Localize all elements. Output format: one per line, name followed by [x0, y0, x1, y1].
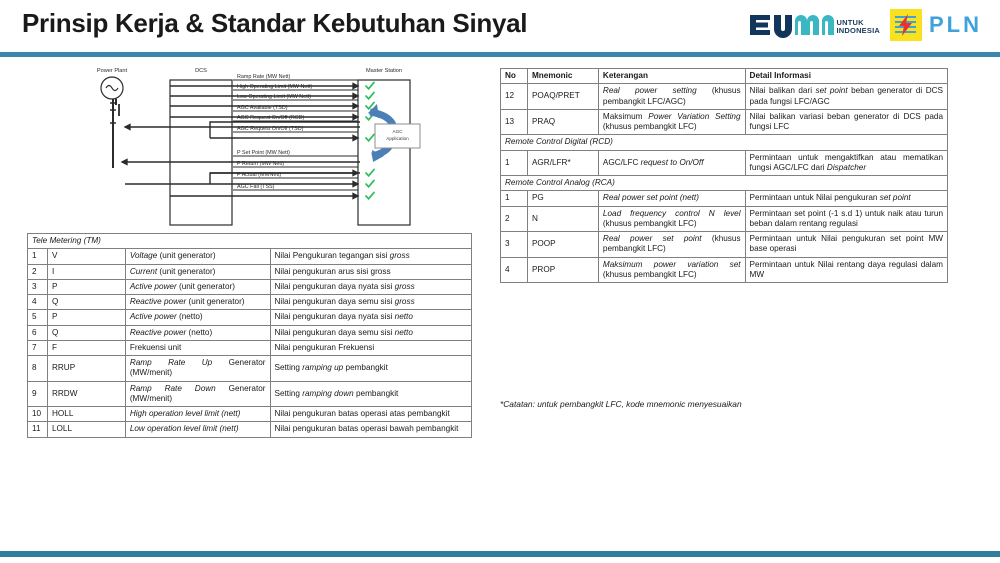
cell-detail: Permintaan untuk mengaktifkan atau memat… — [745, 150, 947, 176]
logo-group: UNTUK INDONESIA PLN — [748, 9, 982, 41]
signal-arrowhead — [122, 159, 127, 164]
table-row: 12POAQ/PRETReal power setting (khusus pe… — [501, 84, 948, 110]
cell-no: 5 — [28, 310, 48, 325]
svg-text:Power Plant: Power Plant — [97, 68, 128, 74]
table-row: 8RRUPRamp Rate Up Generator (MW/menit)Se… — [28, 356, 472, 382]
cell-keterangan: Voltage (unit generator) — [125, 249, 270, 264]
cell-mnemonic: I — [47, 264, 125, 279]
pln-lightning-badge — [890, 9, 922, 41]
svg-text:Application: Application — [386, 136, 409, 141]
cell-no: 2 — [28, 264, 48, 279]
cell-keterangan: Real power setting (khusus pembangkit LF… — [598, 84, 745, 110]
table-row: 2ICurrent (unit generator)Nilai pengukur… — [28, 264, 472, 279]
cell-mnemonic: PROP — [527, 257, 598, 283]
cell-detail: Nilai pengukuran daya semu sisi gross — [270, 295, 472, 310]
table-row: 7FFrekuensi unitNilai pengukuran Frekuen… — [28, 340, 472, 355]
cell-keterangan: Active power (unit generator) — [125, 279, 270, 294]
table-row: 1AGR/LFR*AGC/LFC request to On/OffPermin… — [501, 150, 948, 176]
bumn-tagline-line2: INDONESIA — [837, 27, 880, 35]
bumn-tagline: UNTUK INDONESIA — [837, 16, 880, 35]
signal-label: P Return (MW Nett) — [237, 161, 284, 167]
svg-text:Master Station: Master Station — [366, 68, 402, 74]
signal-label: Ramp Rate (MW Nett) — [237, 74, 291, 80]
cell-detail: Nilai balikan dari set point beban gener… — [745, 84, 947, 110]
table-footnote: *Catatan: untuk pembangkit LFC, kode mne… — [500, 399, 742, 409]
cell-detail: Nilai pengukuran daya semu sisi netto — [270, 325, 472, 340]
table-row: 5PActive power (netto)Nilai pengukuran d… — [28, 310, 472, 325]
cell-no: 8 — [28, 356, 48, 382]
cell-detail: Nilai balikan variasi beban generator di… — [745, 109, 947, 135]
cell-keterangan: Active power (netto) — [125, 310, 270, 325]
cell-keterangan: Current (unit generator) — [125, 264, 270, 279]
cell-detail: Nilai pengukuran batas operasi atas pemb… — [270, 407, 472, 422]
table-row: 9RRDWRamp Rate Down Generator (MW/menit)… — [28, 381, 472, 407]
table-header-row: NoMnemonicKeteranganDetail Informasi — [501, 69, 948, 84]
cell-keterangan: Ramp Rate Down Generator (MW/menit) — [125, 381, 270, 407]
signal-arrowhead — [353, 181, 358, 186]
check-icon — [366, 134, 374, 140]
cell-no: 13 — [501, 109, 528, 135]
pln-wordmark: PLN — [929, 12, 982, 38]
section-remote-control-digital: Remote Control Digital (RCD) — [501, 135, 948, 150]
signal-arrowhead — [353, 135, 358, 140]
cell-detail: Permintaan untuk Nilai pengukuran set po… — [745, 232, 947, 258]
mnemonic-table: NoMnemonicKeteranganDetail Informasi12PO… — [500, 68, 948, 283]
signal-arrowhead — [353, 93, 358, 98]
cell-no: 3 — [28, 279, 48, 294]
cell-mnemonic: AGR/LFR* — [527, 150, 598, 176]
cell-keterangan: Reactive power (unit generator) — [125, 295, 270, 310]
cell-mnemonic: PRAQ — [527, 109, 598, 135]
header-no: No — [501, 69, 528, 84]
cell-no: 12 — [501, 84, 528, 110]
cell-no: 1 — [501, 191, 528, 206]
signal-arrowhead — [353, 103, 358, 108]
agc-application-callout: AGC Application — [368, 104, 420, 162]
table-section-row: Tele Metering (TM) — [28, 234, 472, 249]
cell-detail: Permintaan set point (-1 s.d 1) untuk na… — [745, 206, 947, 232]
signal-label: AGC Request On/Off (RCD) — [237, 115, 305, 121]
check-icon — [366, 82, 374, 88]
signal-label: High Operating Limit (MW Nett) — [237, 84, 312, 90]
header-mnemonic: Mnemonic — [527, 69, 598, 84]
table-row: 1PGReal power set point (nett)Permintaan… — [501, 191, 948, 206]
cell-mnemonic: F — [47, 340, 125, 355]
cell-keterangan: AGC/LFC request to On/Off — [598, 150, 745, 176]
cell-detail: Setting ramping down pembangkit — [270, 381, 472, 407]
cell-keterangan: Frekuensi unit — [125, 340, 270, 355]
cell-mnemonic: V — [47, 249, 125, 264]
check-icon — [366, 180, 374, 186]
signal-label: Low Operating Limit (MW Nett) — [237, 94, 311, 100]
signal-arrowhead — [353, 114, 358, 119]
cell-no: 4 — [28, 295, 48, 310]
cell-keterangan: Maksimum power variation set (khusus pem… — [598, 257, 745, 283]
cell-keterangan: Real power set point (nett) — [598, 191, 745, 206]
signal-flow-diagram: Ramp Rate (MW Nett)High Operating Limit … — [70, 60, 490, 238]
cell-keterangan: Real power set point (khusus pembangkit … — [598, 232, 745, 258]
signal-label: P Set Point (MW Nett) — [237, 150, 290, 156]
cell-mnemonic: POAQ/PRET — [527, 84, 598, 110]
cell-mnemonic: Q — [47, 325, 125, 340]
cell-detail: Permintaan untuk Nilai pengukuran set po… — [745, 191, 947, 206]
cell-mnemonic: HOLL — [47, 407, 125, 422]
cell-mnemonic: P — [47, 279, 125, 294]
signal-label: AGC Available (TSD) — [237, 105, 288, 111]
cell-keterangan: Low operation level limit (nett) — [125, 422, 270, 437]
cell-no: 1 — [501, 150, 528, 176]
tele-metering-table: Tele Metering (TM)1VVoltage (unit genera… — [27, 233, 472, 438]
table-section-row: Remote Control Analog (RCA) — [501, 176, 948, 191]
cell-no: 9 — [28, 381, 48, 407]
table-section-row: Remote Control Digital (RCD) — [501, 135, 948, 150]
page-title: Prinsip Kerja & Standar Kebutuhan Sinyal — [22, 8, 527, 39]
lightning-bolt-icon — [893, 12, 919, 38]
check-icon — [366, 169, 374, 175]
signal-label: AGC Request On/Off (TSD) — [237, 126, 304, 132]
cell-detail: Nilai pengukuran arus sisi gross — [270, 264, 472, 279]
table-row: 4PROPMaksimum power variation set (khusu… — [501, 257, 948, 283]
svg-text:AGC: AGC — [393, 129, 404, 134]
cell-no: 6 — [28, 325, 48, 340]
cell-mnemonic: PG — [527, 191, 598, 206]
bumn-logo: UNTUK INDONESIA — [748, 12, 880, 38]
signal-arrowhead — [353, 83, 358, 88]
signal-arrowhead — [353, 193, 358, 198]
cell-keterangan: Ramp Rate Up Generator (MW/menit) — [125, 356, 270, 382]
cell-detail: Nilai pengukuran Frekuensi — [270, 340, 472, 355]
table-row: 4QReactive power (unit generator)Nilai p… — [28, 295, 472, 310]
mnemonic-table-wrap: NoMnemonicKeteranganDetail Informasi12PO… — [500, 68, 948, 283]
check-icon — [366, 92, 374, 98]
signal-arrowhead — [125, 124, 130, 129]
header-detail: Detail Informasi — [745, 69, 947, 84]
bumn-wordmark-icon — [748, 12, 834, 38]
table-row: 3POOPReal power set point (khusus pemban… — [501, 232, 948, 258]
svg-text:DCS: DCS — [195, 68, 207, 74]
cell-no: 4 — [501, 257, 528, 283]
signal-label: P Actual (MWNett) — [237, 172, 281, 178]
cell-keterangan: Maksimum Power Variation Setting (khusus… — [598, 109, 745, 135]
table-row: 6QReactive power (netto)Nilai pengukuran… — [28, 325, 472, 340]
cell-keterangan: High operation level limit (nett) — [125, 407, 270, 422]
diagram-svg: Ramp Rate (MW Nett)High Operating Limit … — [70, 60, 490, 238]
cell-keterangan: Load frequency control N level (khusus p… — [598, 206, 745, 232]
table-row: 11LOLLLow operation level limit (nett)Ni… — [28, 422, 472, 437]
cell-detail: Nilai pengukuran daya nyata sisi gross — [270, 279, 472, 294]
cell-detail: Nilai Pengukuran tegangan sisi gross — [270, 249, 472, 264]
cell-no: 1 — [28, 249, 48, 264]
section-remote-control-analog: Remote Control Analog (RCA) — [501, 176, 948, 191]
table-row: 3PActive power (unit generator)Nilai pen… — [28, 279, 472, 294]
table-row: 1VVoltage (unit generator)Nilai Pengukur… — [28, 249, 472, 264]
cell-mnemonic: P — [47, 310, 125, 325]
footer-divider — [0, 551, 1000, 557]
cell-detail: Nilai pengukuran batas operasi bawah pem… — [270, 422, 472, 437]
cell-detail: Setting ramping up pembangkit — [270, 356, 472, 382]
cell-no: 10 — [28, 407, 48, 422]
header-divider — [0, 52, 1000, 57]
check-icon — [366, 102, 374, 108]
cell-no: 11 — [28, 422, 48, 437]
cell-keterangan: Reactive power (netto) — [125, 325, 270, 340]
check-icon — [366, 192, 374, 198]
cell-no: 7 — [28, 340, 48, 355]
cell-mnemonic: LOLL — [47, 422, 125, 437]
cell-detail: Permintaan untuk Nilai rentang daya regu… — [745, 257, 947, 283]
table-row: 2NLoad frequency control N level (khusus… — [501, 206, 948, 232]
section-tele-metering: Tele Metering (TM) — [28, 234, 472, 249]
cell-no: 3 — [501, 232, 528, 258]
cell-mnemonic: POOP — [527, 232, 598, 258]
cell-mnemonic: RRDW — [47, 381, 125, 407]
cell-mnemonic: N — [527, 206, 598, 232]
table-row: 13PRAQMaksimum Power Variation Setting (… — [501, 109, 948, 135]
tele-metering-table-wrap: Tele Metering (TM)1VVoltage (unit genera… — [27, 233, 472, 438]
cell-no: 2 — [501, 206, 528, 232]
pln-logo: PLN — [890, 9, 982, 41]
cell-mnemonic: RRUP — [47, 356, 125, 382]
cell-mnemonic: Q — [47, 295, 125, 310]
signal-label: AGC Fail (TSS) — [237, 184, 275, 190]
cell-detail: Nilai pengukuran daya nyata sisi netto — [270, 310, 472, 325]
header-keterangan: Keterangan — [598, 69, 745, 84]
table-row: 10HOLLHigh operation level limit (nett)N… — [28, 407, 472, 422]
